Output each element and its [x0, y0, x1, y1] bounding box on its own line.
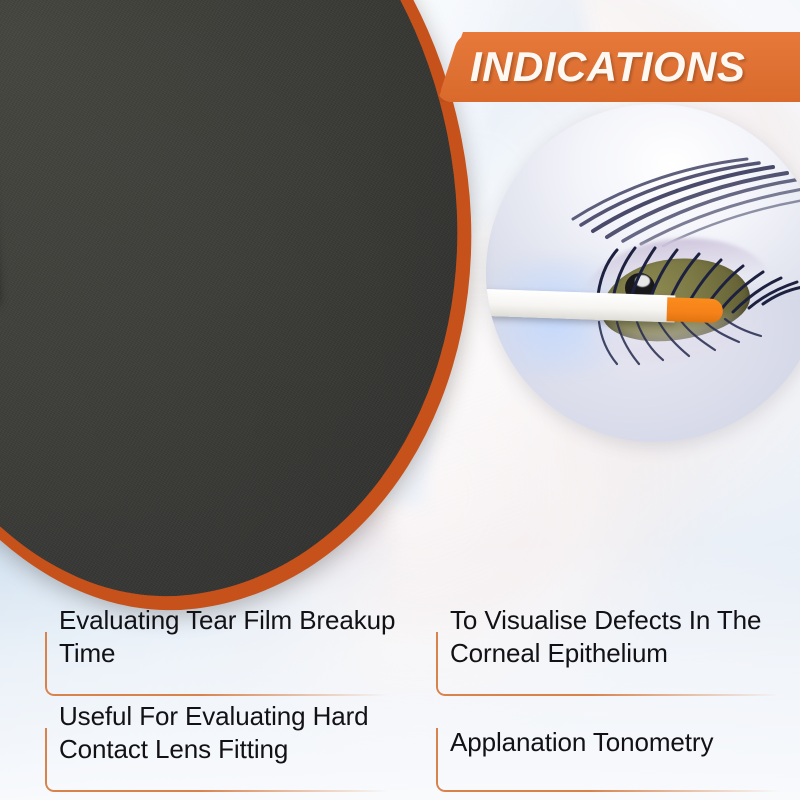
indication-text-3: Useful For Evaluating Hard Contact Lens … [59, 700, 407, 766]
indication-item-2: To Visualise Defects In The Corneal Epit… [436, 604, 796, 696]
indication-text-4: Applanation Tonometry [450, 726, 798, 759]
indications-infographic: INDICATIONS Evaluating Tear Film Breakup… [0, 0, 800, 800]
indication-text-2: To Visualise Defects In The Corneal Epit… [450, 604, 798, 670]
indication-item-3: Useful For Evaluating Hard Contact Lens … [45, 700, 405, 792]
indication-item-4: Applanation Tonometry [436, 700, 796, 792]
banner-title: INDICATIONS [470, 38, 800, 96]
lower-eyelashes-icon [581, 314, 777, 388]
panel-texture [0, 0, 501, 630]
indication-text-1: Evaluating Tear Film Breakup Time [59, 604, 407, 670]
applied-strip-orange-tip [667, 296, 725, 323]
product-panel-surface [0, 0, 501, 630]
eye-closeup-photo [486, 104, 800, 442]
product-panel [0, 0, 470, 610]
indication-item-1: Evaluating Tear Film Breakup Time [45, 604, 405, 696]
